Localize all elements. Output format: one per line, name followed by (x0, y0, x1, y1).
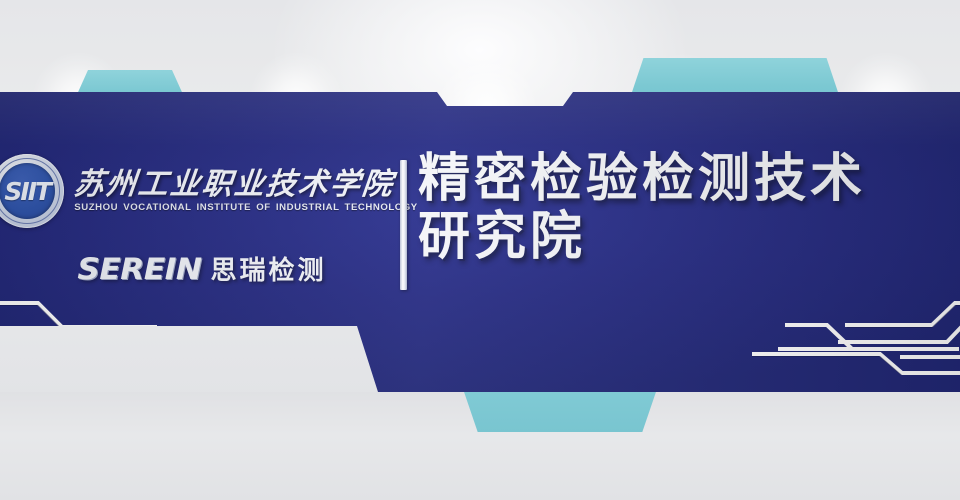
banner-content: SIIT 苏州工业职业技术学院 SUZHOU VOCATIONAL INSTIT… (0, 92, 960, 392)
title-line-1: 精密检验检测技术 (418, 150, 948, 208)
logo-block: SIIT 苏州工业职业技术学院 SUZHOU VOCATIONAL INSTIT… (18, 154, 390, 287)
circuit-lines-left (0, 297, 210, 372)
partner-brand-row: SEREIN 思瑞检测 (82, 250, 327, 287)
crest-monogram: SIIT (0, 154, 64, 228)
university-row: SIIT 苏州工业职业技术学院 SUZHOU VOCATIONAL INSTIT… (0, 154, 418, 228)
institute-title: 精密检验检测技术 研究院 (418, 150, 948, 266)
title-line-2: 研究院 (418, 208, 948, 266)
university-text: 苏州工业职业技术学院 SUZHOU VOCATIONAL INSTITUTE O… (74, 169, 417, 214)
university-name-cn: 苏州工业职业技术学院 (73, 169, 420, 201)
partner-brand-cn: 思瑞检测 (210, 250, 326, 287)
university-crest-icon: SIIT (0, 154, 64, 228)
vertical-divider (400, 160, 407, 290)
partner-brand-en: SEREIN (77, 252, 201, 286)
teal-trapezoid-bottom (462, 386, 658, 432)
university-name-en: SUZHOU VOCATIONAL INSTITUTE OF INDUSTRIA… (74, 202, 417, 213)
main-banner-panel: SIIT 苏州工业职业技术学院 SUZHOU VOCATIONAL INSTIT… (0, 92, 960, 392)
banner-scene: SIIT 苏州工业职业技术学院 SUZHOU VOCATIONAL INSTIT… (0, 0, 960, 500)
circuit-lines-right (752, 297, 960, 375)
